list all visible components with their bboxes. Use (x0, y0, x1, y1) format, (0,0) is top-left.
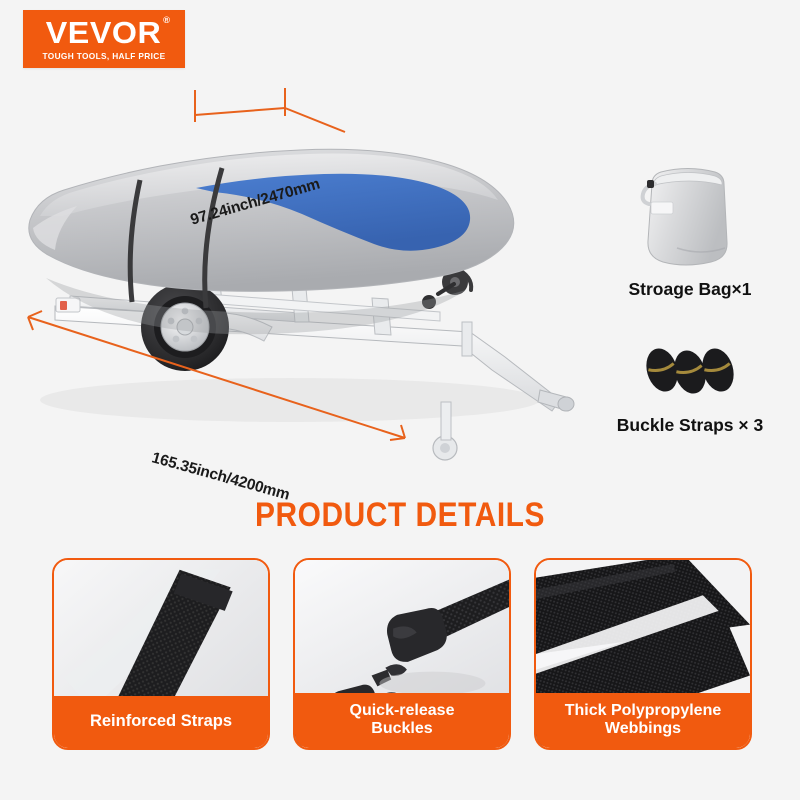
width-span-extend (285, 108, 345, 132)
registered-mark: ® (164, 16, 171, 25)
detail-card-reinforced-straps[interactable]: Reinforced Straps (52, 558, 270, 750)
coiled-strap (698, 345, 739, 396)
jet-ski-cover-illustration (0, 70, 575, 470)
caption-line-2: Buckles (371, 720, 432, 737)
length-arrow-right (390, 425, 405, 440)
brand-name: VEVOR ® (46, 17, 161, 48)
section-title-product-details: PRODUCT DETAILS (48, 496, 752, 535)
caption-line-2: Webbings (605, 720, 681, 737)
caption-line-1: Thick Polypropylene (565, 702, 721, 719)
hero-product-image: 97.24inch/2470mm 165.35inch/4200mm (0, 70, 575, 470)
detail-card-caption-thick-polypropylene-webbings: Thick Polypropylene Webbings (534, 693, 752, 750)
accessory-storage-bag: Stroage Bag×1 (585, 160, 795, 300)
infographic-page: VEVOR ® TOUGH TOOLS, HALF PRICE (0, 0, 800, 800)
brand-tagline: TOUGH TOOLS, HALF PRICE (43, 51, 166, 61)
caption-line-1: Quick-release (350, 702, 455, 719)
storage-bag-icon (585, 160, 795, 268)
width-span (195, 108, 285, 115)
detail-card-quick-release-buckles[interactable]: Quick-release Buckles (293, 558, 511, 750)
detail-card-caption-reinforced-straps: Reinforced Straps (52, 696, 270, 750)
detail-card-caption-quick-release-buckles: Quick-release Buckles (293, 693, 511, 750)
accessory-label-storage-bag: Stroage Bag×1 (585, 279, 795, 300)
buckle-straps-icon (585, 340, 795, 404)
product-detail-cards: Reinforced Straps (52, 558, 752, 758)
detail-card-thick-polypropylene-webbings[interactable]: Thick Polypropylene Webbings (534, 558, 752, 750)
ground-shadow (40, 378, 540, 422)
vevor-logo: VEVOR ® TOUGH TOOLS, HALF PRICE (23, 10, 185, 68)
accessory-label-buckle-straps: Buckle Straps × 3 (585, 415, 795, 436)
accessory-buckle-straps: Buckle Straps × 3 (585, 340, 795, 436)
